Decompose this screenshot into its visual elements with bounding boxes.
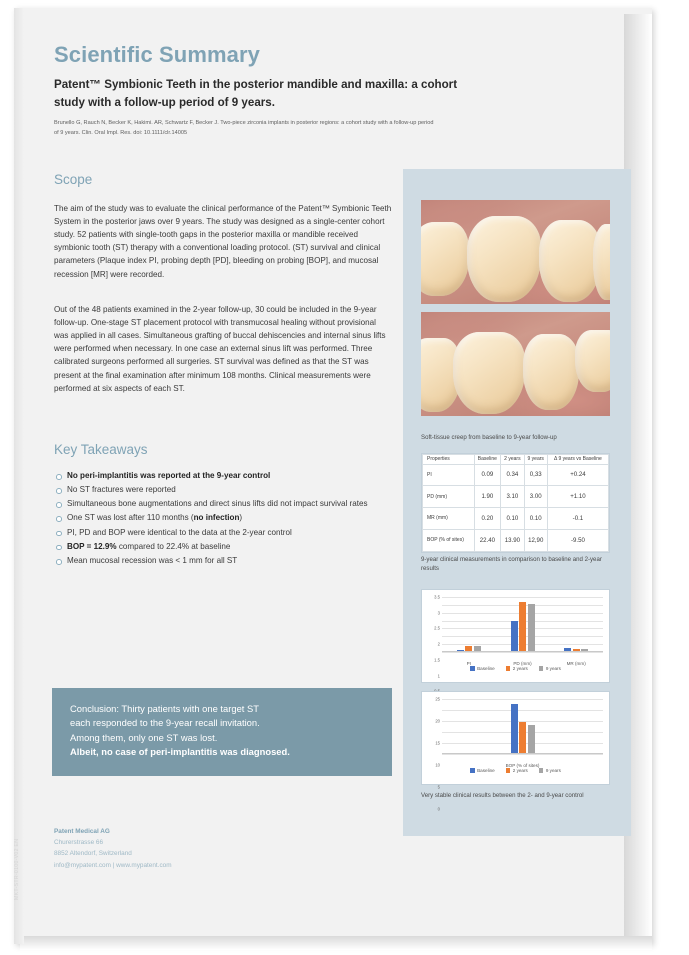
table-header-row: PropertiesBaseline2 years9 yearsΔ 9 year…: [423, 455, 609, 465]
bar: [465, 646, 472, 651]
bar-group: [509, 704, 537, 753]
legend-swatch: [506, 666, 511, 671]
y-axis-tick-label: 3: [438, 610, 440, 615]
conclusion-line-2: each responded to the 9-year recall invi…: [70, 717, 260, 728]
charts-caption: Very stable clinical results between the…: [421, 791, 615, 800]
table-cell: 0.09: [474, 464, 501, 486]
measurements-table: PropertiesBaseline2 years9 yearsΔ 9 year…: [422, 454, 609, 552]
table-column-header: Baseline: [474, 455, 501, 465]
bar: [581, 649, 588, 651]
conclusion-text: Conclusion: Thirty patients with one tar…: [70, 702, 374, 759]
tooth-shape: [523, 334, 579, 410]
bar: [511, 704, 518, 753]
plot-area: 2520151050BOP (% of sites): [442, 699, 603, 754]
legend-swatch: [506, 768, 511, 773]
legend-label: 2 years: [513, 768, 528, 773]
bar: [474, 646, 481, 651]
bar-group: [562, 648, 590, 651]
table-cell: PD (mm): [423, 486, 475, 508]
clinical-measurements-table: PropertiesBaseline2 years9 yearsΔ 9 year…: [421, 453, 610, 553]
legend-item: 9 years: [539, 666, 561, 671]
photo-caption: Soft-tissue creep from baseline to 9-yea…: [421, 433, 615, 442]
y-axis-tick-label: 1: [438, 673, 440, 678]
document-code: MKT-STR-0100-V02 EN: [14, 790, 30, 900]
citation-text: Brunello G, Rauch N, Becker K, Hakimi. A…: [54, 118, 434, 139]
bar: [457, 650, 464, 651]
bar: [511, 621, 518, 651]
scope-paragraph-2: Out of the 48 patients examined in the 2…: [54, 303, 392, 395]
y-axis-tick-label: 25: [435, 697, 440, 702]
conclusion-box: Conclusion: Thirty patients with one tar…: [52, 688, 392, 776]
y-axis-tick-label: 10: [435, 763, 440, 768]
gridline: 25: [442, 699, 603, 700]
table-column-header: Δ 9 years vs Baseline: [547, 455, 608, 465]
legend-item: 9 years: [539, 768, 561, 773]
legend-label: 9 years: [546, 666, 561, 671]
table-cell: 22.40: [474, 530, 501, 552]
bar-chart-2: 2520151050BOP (% of sites)Baseline2 year…: [422, 692, 609, 784]
x-axis-line: [442, 753, 603, 754]
y-axis-tick-label: 20: [435, 719, 440, 724]
legend-item: 2 years: [506, 666, 528, 671]
footer-street: Churerstrasse 66: [54, 837, 172, 848]
takeaway-item: One ST was lost after 110 months (no inf…: [54, 512, 394, 523]
legend-swatch: [470, 768, 475, 773]
footer-city: 8852 Altendorf, Switzerland: [54, 848, 172, 859]
takeaways-heading: Key Takeaways: [54, 442, 148, 457]
table-cell: +1.10: [547, 486, 608, 508]
footer-company: Patent Medical AG: [54, 826, 172, 837]
table-row: PD (mm)1.903.103.00+1.10: [423, 486, 609, 508]
legend-swatch: [470, 666, 475, 671]
page-subtitle: Patent™ Symbionic Teeth in the posterior…: [54, 76, 484, 111]
bar-group: [455, 646, 483, 651]
y-axis-tick-label: 15: [435, 741, 440, 746]
tooth-shape: [539, 220, 601, 302]
legend-swatch: [539, 666, 544, 671]
table-cell: -9.50: [547, 530, 608, 552]
table-cell: -0.1: [547, 508, 608, 530]
table-column-header: 2 years: [501, 455, 524, 465]
table-body: PI0.090.340,33+0.24PD (mm)1.903.103.00+1…: [423, 464, 609, 552]
scope-heading: Scope: [54, 172, 92, 187]
y-axis-tick-label: 2: [438, 642, 440, 647]
clinical-photo-9-year: [421, 312, 610, 416]
table-row: MR (mm)0.200.100.10-0.1: [423, 508, 609, 530]
table-cell: 3.00: [524, 486, 547, 508]
takeaways-list: No peri-implantitis was reported at the …: [54, 470, 394, 569]
bar: [519, 722, 526, 753]
legend-label: Baseline: [477, 768, 495, 773]
bar-chart-1: 3.532.521.510.50PIPD (mm)MR (mm)Baseline…: [422, 590, 609, 682]
table-cell: 13.90: [501, 530, 524, 552]
gridline: 0: [442, 652, 603, 653]
y-axis-tick-label: 5: [438, 785, 440, 790]
table-cell: 1.90: [474, 486, 501, 508]
x-axis-line: [442, 651, 603, 652]
table-cell: BOP (% of sites): [423, 530, 475, 552]
conclusion-line-3: Among them, only one ST was lost.: [70, 732, 217, 743]
table-cell: +0.24: [547, 464, 608, 486]
table-cell: PI: [423, 464, 475, 486]
y-axis-tick-label: 1.5: [434, 657, 440, 662]
legend-item: Baseline: [470, 768, 495, 773]
footer-contact-line[interactable]: info@mypatent.com | www.mypatent.com: [54, 860, 172, 871]
bar: [528, 604, 535, 651]
tooth-shape: [467, 216, 541, 302]
tooth-shape: [575, 330, 610, 392]
gridline: 0: [442, 754, 603, 755]
table-row: PI0.090.340,33+0.24: [423, 464, 609, 486]
legend-label: 2 years: [513, 666, 528, 671]
footer-contact: Patent Medical AG Churerstrasse 66 8852 …: [54, 826, 172, 871]
table-caption: 9-year clinical measurements in comparis…: [421, 555, 615, 573]
legend-item: 2 years: [506, 768, 528, 773]
chart-bop: 2520151050BOP (% of sites)Baseline2 year…: [421, 691, 610, 785]
takeaway-item: Mean mucosal recession was < 1 mm for al…: [54, 555, 394, 566]
table-cell: 0.10: [524, 508, 547, 530]
takeaway-item: PI, PD and BOP were identical to the dat…: [54, 527, 394, 538]
table-cell: 0.20: [474, 508, 501, 530]
table-cell: MR (mm): [423, 508, 475, 530]
chart-legend: Baseline2 years9 years: [422, 666, 609, 671]
clinical-photo-baseline: [421, 200, 610, 304]
legend-label: Baseline: [477, 666, 495, 671]
table-cell: 0.10: [501, 508, 524, 530]
scope-paragraph-1: The aim of the study was to evaluate the…: [54, 202, 392, 281]
conclusion-line-4: Albeit, no case of peri-implantitis was …: [70, 746, 290, 757]
page-title: Scientific Summary: [54, 42, 260, 68]
y-axis-tick-label: 2.5: [434, 626, 440, 631]
bar: [564, 648, 571, 651]
table-cell: 0,33: [524, 464, 547, 486]
tooth-shape: [453, 332, 525, 414]
table-row: BOP (% of sites)22.4013.9012,90-9.50: [423, 530, 609, 552]
legend-item: Baseline: [470, 666, 495, 671]
table-column-header: 9 years: [524, 455, 547, 465]
sheet-shadow-bottom: [20, 936, 652, 950]
chart-legend: Baseline2 years9 years: [422, 768, 609, 773]
takeaway-item: No peri-implantitis was reported at the …: [54, 470, 394, 481]
takeaway-item: Simultaneous bone augmentations and dire…: [54, 498, 394, 509]
plot-area: 3.532.521.510.50PIPD (mm)MR (mm): [442, 597, 603, 652]
table-cell: 12,90: [524, 530, 547, 552]
takeaway-item: BOP = 12.9% compared to 22.4% at baselin…: [54, 541, 394, 552]
table-cell: 3.10: [501, 486, 524, 508]
chart-pi-pd-mr: 3.532.521.510.50PIPD (mm)MR (mm)Baseline…: [421, 589, 610, 683]
gridline: 3.5: [442, 597, 603, 598]
legend-swatch: [539, 768, 544, 773]
bar: [573, 649, 580, 651]
legend-label: 9 years: [546, 768, 561, 773]
page-root: MKT-STR-0100-V02 EN Scientific Summary P…: [0, 0, 689, 955]
table-cell: 0.34: [501, 464, 524, 486]
y-axis-tick-label: 3.5: [434, 595, 440, 600]
takeaway-item: No ST fractures were reported: [54, 484, 394, 495]
bar: [528, 725, 535, 753]
table-column-header: Properties: [423, 455, 475, 465]
bar-group: [509, 602, 537, 651]
bar: [519, 602, 526, 651]
y-axis-tick-label: 0: [438, 807, 440, 812]
conclusion-line-1: Conclusion: Thirty patients with one tar…: [70, 703, 259, 714]
